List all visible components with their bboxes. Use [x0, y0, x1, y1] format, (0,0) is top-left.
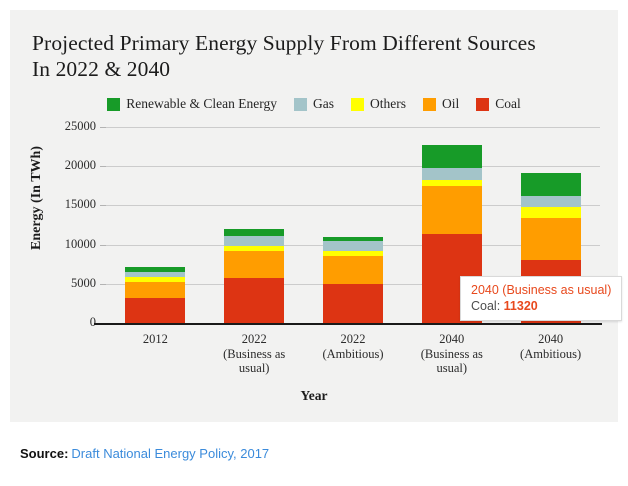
- chart-card: Projected Primary Energy Supply From Dif…: [10, 10, 618, 422]
- bar-segment[interactable]: [125, 298, 185, 323]
- bar-segment[interactable]: [125, 282, 185, 298]
- y-axis-tick-label: 15000: [18, 197, 96, 212]
- y-axis-tick-label: 25000: [18, 119, 96, 134]
- y-axis-tick-label: 5000: [18, 276, 96, 291]
- x-axis-line: [94, 323, 602, 325]
- x-axis-tick-label: 2040(Business asusual): [402, 332, 501, 376]
- bar-group[interactable]: [323, 237, 383, 323]
- chart-page: Projected Primary Energy Supply From Dif…: [0, 0, 628, 486]
- x-axis-tick-label-line: 2022: [205, 332, 304, 347]
- x-axis-tick-label-line: (Business as: [205, 347, 304, 362]
- x-axis-tick-label: 2040(Ambitious): [501, 332, 600, 361]
- chart-tooltip: 2040 (Business as usual) Coal: 11320: [460, 276, 622, 321]
- tooltip-series-label: Coal:: [471, 299, 500, 313]
- bar-segment[interactable]: [224, 236, 284, 246]
- bar-segment[interactable]: [224, 229, 284, 236]
- x-axis-tick-label: 2022(Business asusual): [205, 332, 304, 376]
- bar-group[interactable]: [224, 229, 284, 323]
- x-axis-tick-label-line: 2040: [501, 332, 600, 347]
- bar-segment[interactable]: [422, 168, 482, 180]
- x-axis-tick-label-line: (Business as: [402, 347, 501, 362]
- bar-segment[interactable]: [422, 186, 482, 234]
- x-axis-tick-label: 2012: [106, 332, 205, 347]
- bar-segment[interactable]: [521, 196, 581, 207]
- x-axis-title: Year: [10, 388, 618, 404]
- bar-segment[interactable]: [422, 145, 482, 168]
- tooltip-row: Coal: 11320: [471, 298, 611, 314]
- bar-segment[interactable]: [521, 207, 581, 218]
- x-axis-tick-label-line: usual): [205, 361, 304, 376]
- tooltip-value: 11320: [504, 299, 538, 313]
- bar-segment[interactable]: [521, 173, 581, 196]
- bar-group[interactable]: [125, 267, 185, 323]
- bar-segment[interactable]: [323, 284, 383, 323]
- x-axis-tick-label-line: 2012: [106, 332, 205, 347]
- source-label: Source:: [20, 446, 68, 461]
- tooltip-title: 2040 (Business as usual): [471, 282, 611, 298]
- bar-segment[interactable]: [224, 251, 284, 278]
- y-axis-tick-label: 10000: [18, 237, 96, 252]
- x-axis-tick-label-line: (Ambitious): [304, 347, 403, 362]
- y-axis-tick-label: 20000: [18, 158, 96, 173]
- plot-area: Energy (In TWh) 050001000015000200002500…: [10, 10, 618, 422]
- bar-segment[interactable]: [224, 278, 284, 323]
- x-axis-tick-label-line: (Ambitious): [501, 347, 600, 362]
- x-axis-tick-label-line: 2022: [304, 332, 403, 347]
- x-axis-tick-label: 2022(Ambitious): [304, 332, 403, 361]
- y-axis-tick-label: 0: [18, 315, 96, 330]
- source-line: Source:Draft National Energy Policy, 201…: [20, 446, 269, 461]
- x-axis-tick-label-line: 2040: [402, 332, 501, 347]
- source-link[interactable]: Draft National Energy Policy, 2017: [71, 446, 269, 461]
- bar-segment[interactable]: [323, 256, 383, 284]
- x-axis-tick-label-line: usual): [402, 361, 501, 376]
- bar-segment[interactable]: [323, 241, 383, 251]
- bar-segment[interactable]: [521, 218, 581, 260]
